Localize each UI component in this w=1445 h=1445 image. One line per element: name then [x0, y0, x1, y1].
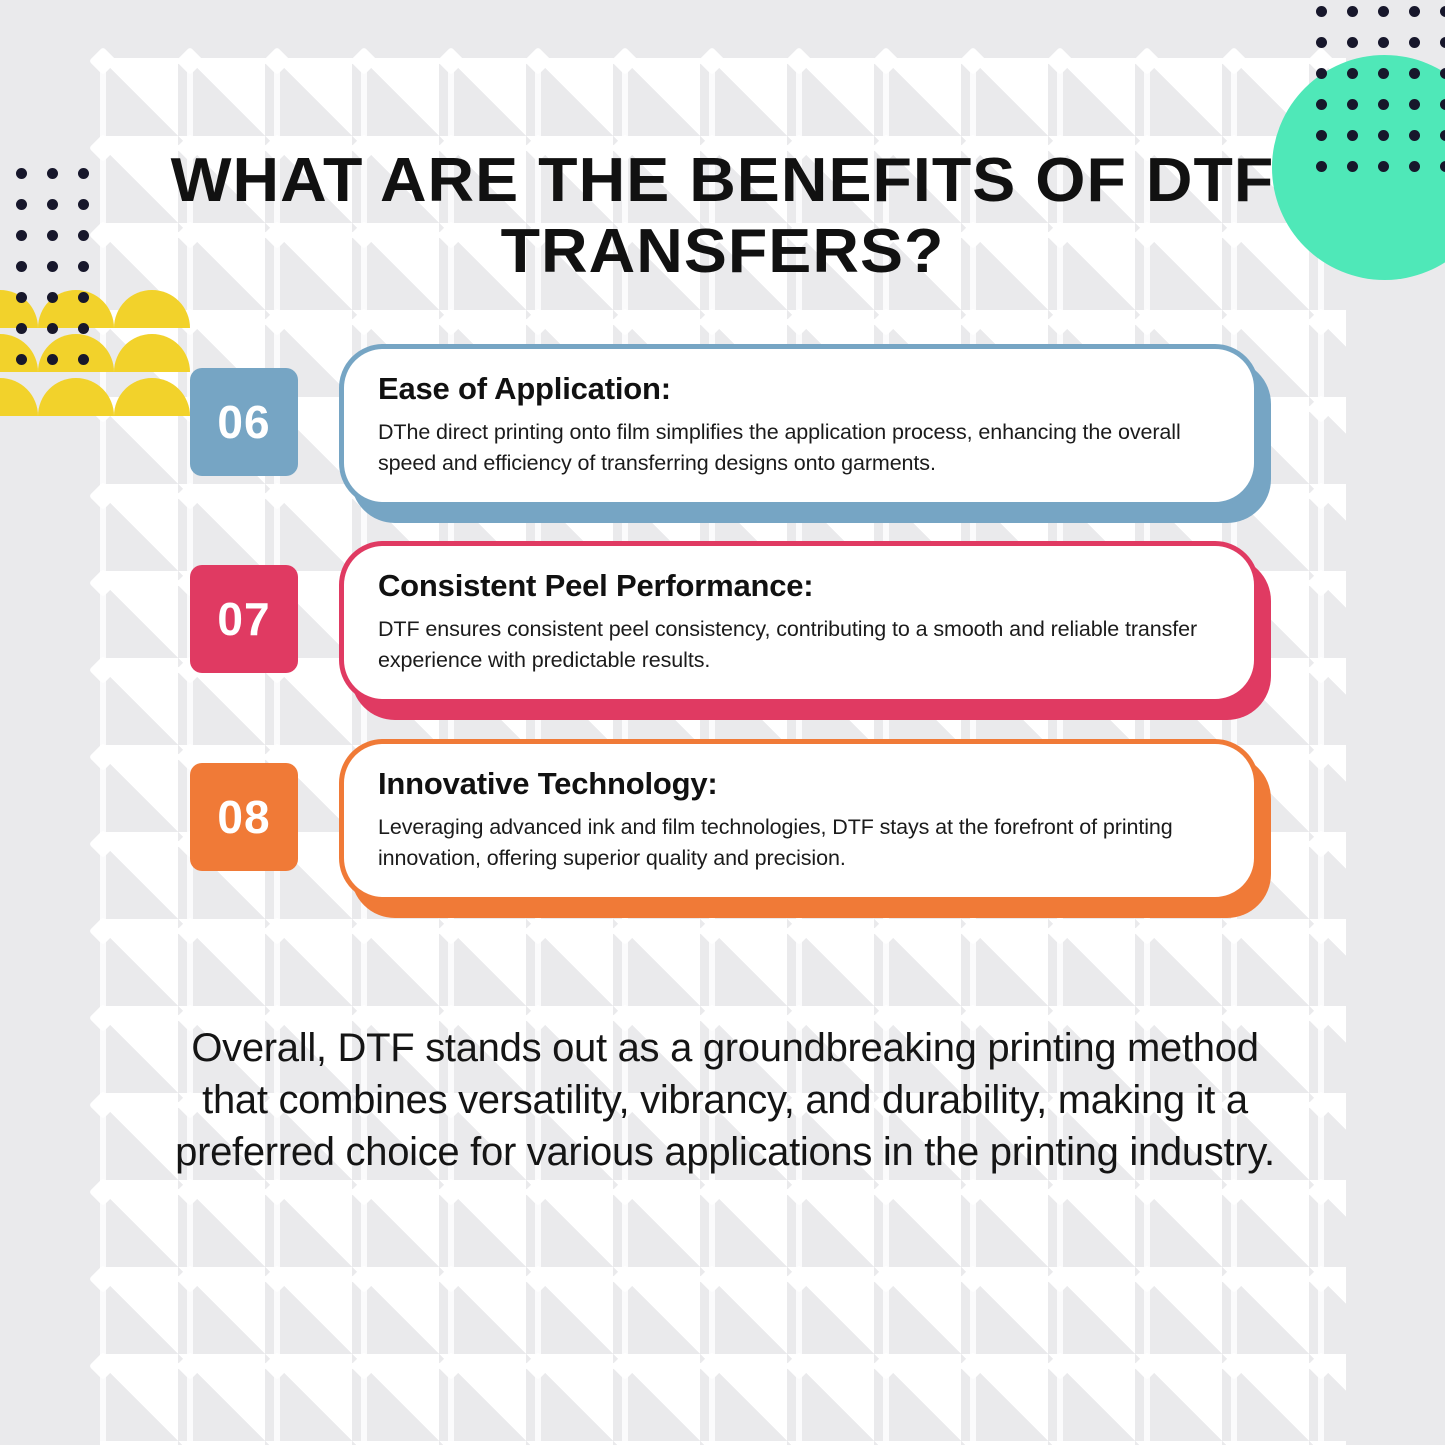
- card-title: Ease of Application:: [378, 371, 1224, 407]
- decoration-dot: [1347, 99, 1358, 110]
- decoration-dot: [47, 354, 58, 365]
- decoration-dot: [78, 323, 89, 334]
- decoration-dot: [78, 261, 89, 272]
- decoration-dot: [47, 323, 58, 334]
- summary-paragraph: Overall, DTF stands out as a groundbreak…: [170, 1022, 1280, 1178]
- decoration-dot: [1378, 99, 1389, 110]
- card-body-wrapper: Consistent Peel Performance:DTF ensures …: [339, 541, 1259, 704]
- card-content: Ease of Application:DThe direct printing…: [339, 344, 1259, 507]
- decoration-dot: [47, 261, 58, 272]
- decoration-dot: [16, 199, 27, 210]
- decoration-dot: [16, 230, 27, 241]
- page-title: WHAT ARE THE BENEFITS OF DTF TRANSFERS?: [158, 146, 1286, 287]
- decoration-dot: [1440, 130, 1445, 141]
- decoration-dot: [1440, 37, 1445, 48]
- decoration-dot: [1378, 68, 1389, 79]
- decoration-dot: [16, 292, 27, 303]
- decoration-dot: [47, 292, 58, 303]
- card-title: Innovative Technology:: [378, 766, 1224, 802]
- benefit-card[interactable]: 08Innovative Technology:Leveraging advan…: [190, 739, 1259, 902]
- card-number-badge: 06: [190, 368, 298, 476]
- decoration-dot: [1316, 161, 1327, 172]
- semicircle-shape: [0, 378, 38, 416]
- decoration-dot: [1347, 37, 1358, 48]
- card-content: Innovative Technology:Leveraging advance…: [339, 739, 1259, 902]
- card-content: Consistent Peel Performance:DTF ensures …: [339, 541, 1259, 704]
- decoration-dot: [78, 168, 89, 179]
- decoration-dot: [16, 168, 27, 179]
- benefit-card[interactable]: 07Consistent Peel Performance:DTF ensure…: [190, 541, 1259, 704]
- infographic-canvas: WHAT ARE THE BENEFITS OF DTF TRANSFERS? …: [0, 0, 1445, 1445]
- decoration-dot: [1347, 68, 1358, 79]
- decoration-dot: [1316, 99, 1327, 110]
- decoration-dot: [78, 354, 89, 365]
- decoration-dot: [1409, 130, 1420, 141]
- decoration-dot: [78, 292, 89, 303]
- decoration-dot: [1316, 130, 1327, 141]
- card-body-wrapper: Ease of Application:DThe direct printing…: [339, 344, 1259, 507]
- decoration-dot: [1409, 6, 1420, 17]
- decoration-dot: [1378, 6, 1389, 17]
- decoration-dot: [78, 230, 89, 241]
- semicircle-shape: [0, 334, 38, 372]
- card-number-badge: 07: [190, 565, 298, 673]
- decoration-dot: [1378, 161, 1389, 172]
- card-description: Leveraging advanced ink and film technol…: [378, 812, 1224, 873]
- decoration-dot: [1316, 6, 1327, 17]
- decoration-dot: [16, 354, 27, 365]
- decoration-dot: [16, 323, 27, 334]
- decoration-dot: [78, 199, 89, 210]
- decoration-dot: [1409, 99, 1420, 110]
- decoration-dot: [1409, 37, 1420, 48]
- decoration-dot: [1440, 68, 1445, 79]
- decoration-dot: [1440, 6, 1445, 17]
- decoration-dot: [1347, 130, 1358, 141]
- card-body-wrapper: Innovative Technology:Leveraging advance…: [339, 739, 1259, 902]
- decoration-dot: [16, 261, 27, 272]
- card-description: DTF ensures consistent peel consistency,…: [378, 614, 1224, 675]
- decoration-dot: [1347, 6, 1358, 17]
- decoration-dot: [1440, 99, 1445, 110]
- card-title: Consistent Peel Performance:: [378, 568, 1224, 604]
- decoration-dot: [1409, 68, 1420, 79]
- decoration-dot: [47, 230, 58, 241]
- decoration-dot: [47, 168, 58, 179]
- decoration-dot: [1440, 161, 1445, 172]
- decoration-dot: [1316, 37, 1327, 48]
- decoration-dot: [47, 199, 58, 210]
- card-number-badge: 08: [190, 763, 298, 871]
- card-description: DThe direct printing onto film simplifie…: [378, 417, 1224, 478]
- decoration-dot: [1316, 68, 1327, 79]
- decoration-dot: [1347, 161, 1358, 172]
- decoration-dot: [1378, 37, 1389, 48]
- benefit-card[interactable]: 06Ease of Application:DThe direct printi…: [190, 344, 1259, 507]
- decoration-dot: [1409, 161, 1420, 172]
- decoration-dot: [1378, 130, 1389, 141]
